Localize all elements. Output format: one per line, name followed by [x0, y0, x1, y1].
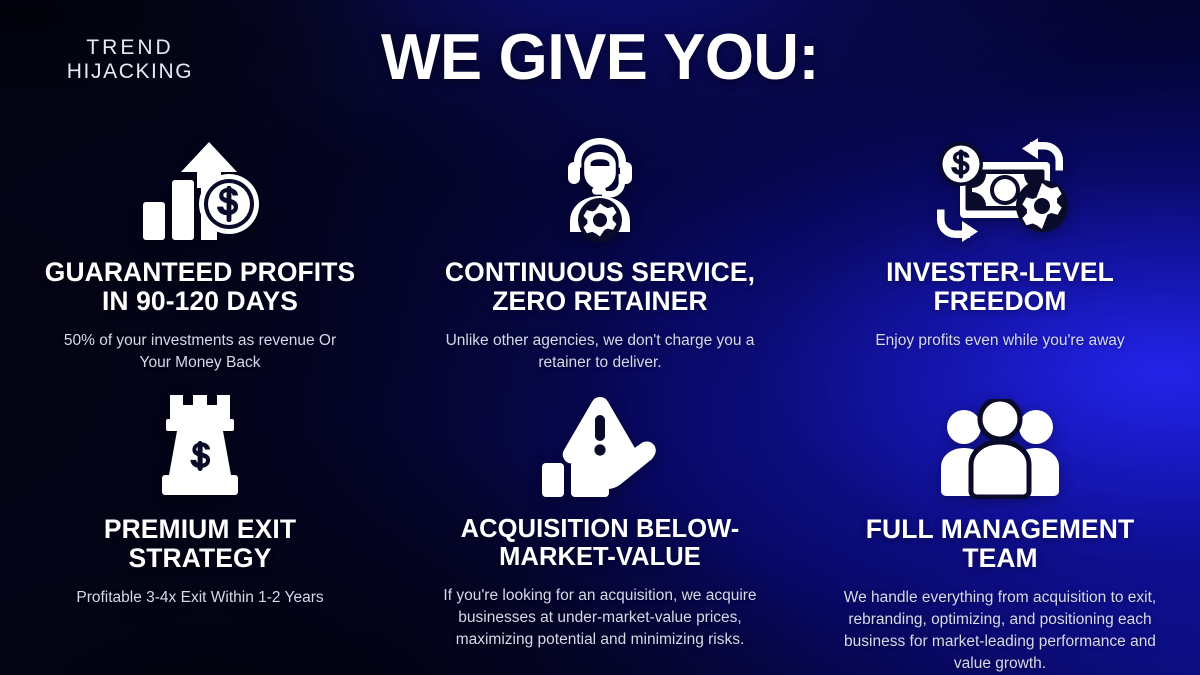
growth-chart-dollar-icon: [141, 134, 259, 242]
benefit-card-title: CONTINUOUS SERVICE, ZERO RETAINER: [437, 258, 762, 316]
benefit-card-acquisition-below-market-value: ACQUISITION BELOW-MARKET-VALUE If you're…: [400, 381, 800, 675]
hand-warning-triangle-icon: [540, 391, 660, 499]
benefit-card-title: ACQUISITION BELOW-MARKET-VALUE: [437, 515, 762, 571]
benefit-card-title: INVESTER-LEVEL FREEDOM: [837, 258, 1162, 316]
benefit-card-premium-exit-strategy: PREMIUM EXIT STRATEGY Profitable 3-4x Ex…: [0, 381, 400, 675]
benefit-card-title: FULL MANAGEMENT TEAM: [837, 515, 1162, 573]
benefit-card-description: Unlike other agencies, we don't charge y…: [445, 330, 755, 374]
benefit-card-guaranteed-profits: GUARANTEED PROFITS IN 90-120 DAYS 50% of…: [0, 126, 400, 381]
slide-canvas: TREND HIJACKING WE GIVE YOU:: [0, 0, 1200, 675]
benefit-card-description: Profitable 3-4x Exit Within 1-2 Years: [76, 587, 323, 609]
people-group-icon: [937, 391, 1063, 499]
benefit-card-full-management-team: FULL MANAGEMENT TEAM We handle everythin…: [800, 381, 1200, 675]
benefit-card-description: 50% of your investments as revenue Or Yo…: [50, 330, 350, 374]
benefit-card-continuous-service: CONTINUOUS SERVICE, ZERO RETAINER Unlike…: [400, 126, 800, 381]
benefit-card-title: PREMIUM EXIT STRATEGY: [37, 515, 362, 573]
benefit-card-invester-level-freedom: INVESTER-LEVEL FREEDOM Enjoy profits eve…: [800, 126, 1200, 381]
money-exchange-gear-icon: [930, 134, 1070, 242]
benefit-card-description: We handle everything from acquisition to…: [834, 587, 1166, 675]
support-agent-gear-icon: [546, 134, 654, 242]
chess-rook-dollar-icon: [160, 391, 240, 499]
benefit-card-description: If you're looking for an acquisition, we…: [440, 585, 760, 651]
benefit-card-description: Enjoy profits even while you're away: [875, 330, 1124, 352]
benefit-card-title: GUARANTEED PROFITS IN 90-120 DAYS: [37, 258, 362, 316]
page-title: WE GIVE YOU:: [18, 24, 1182, 89]
benefits-grid: GUARANTEED PROFITS IN 90-120 DAYS 50% of…: [0, 126, 1200, 675]
